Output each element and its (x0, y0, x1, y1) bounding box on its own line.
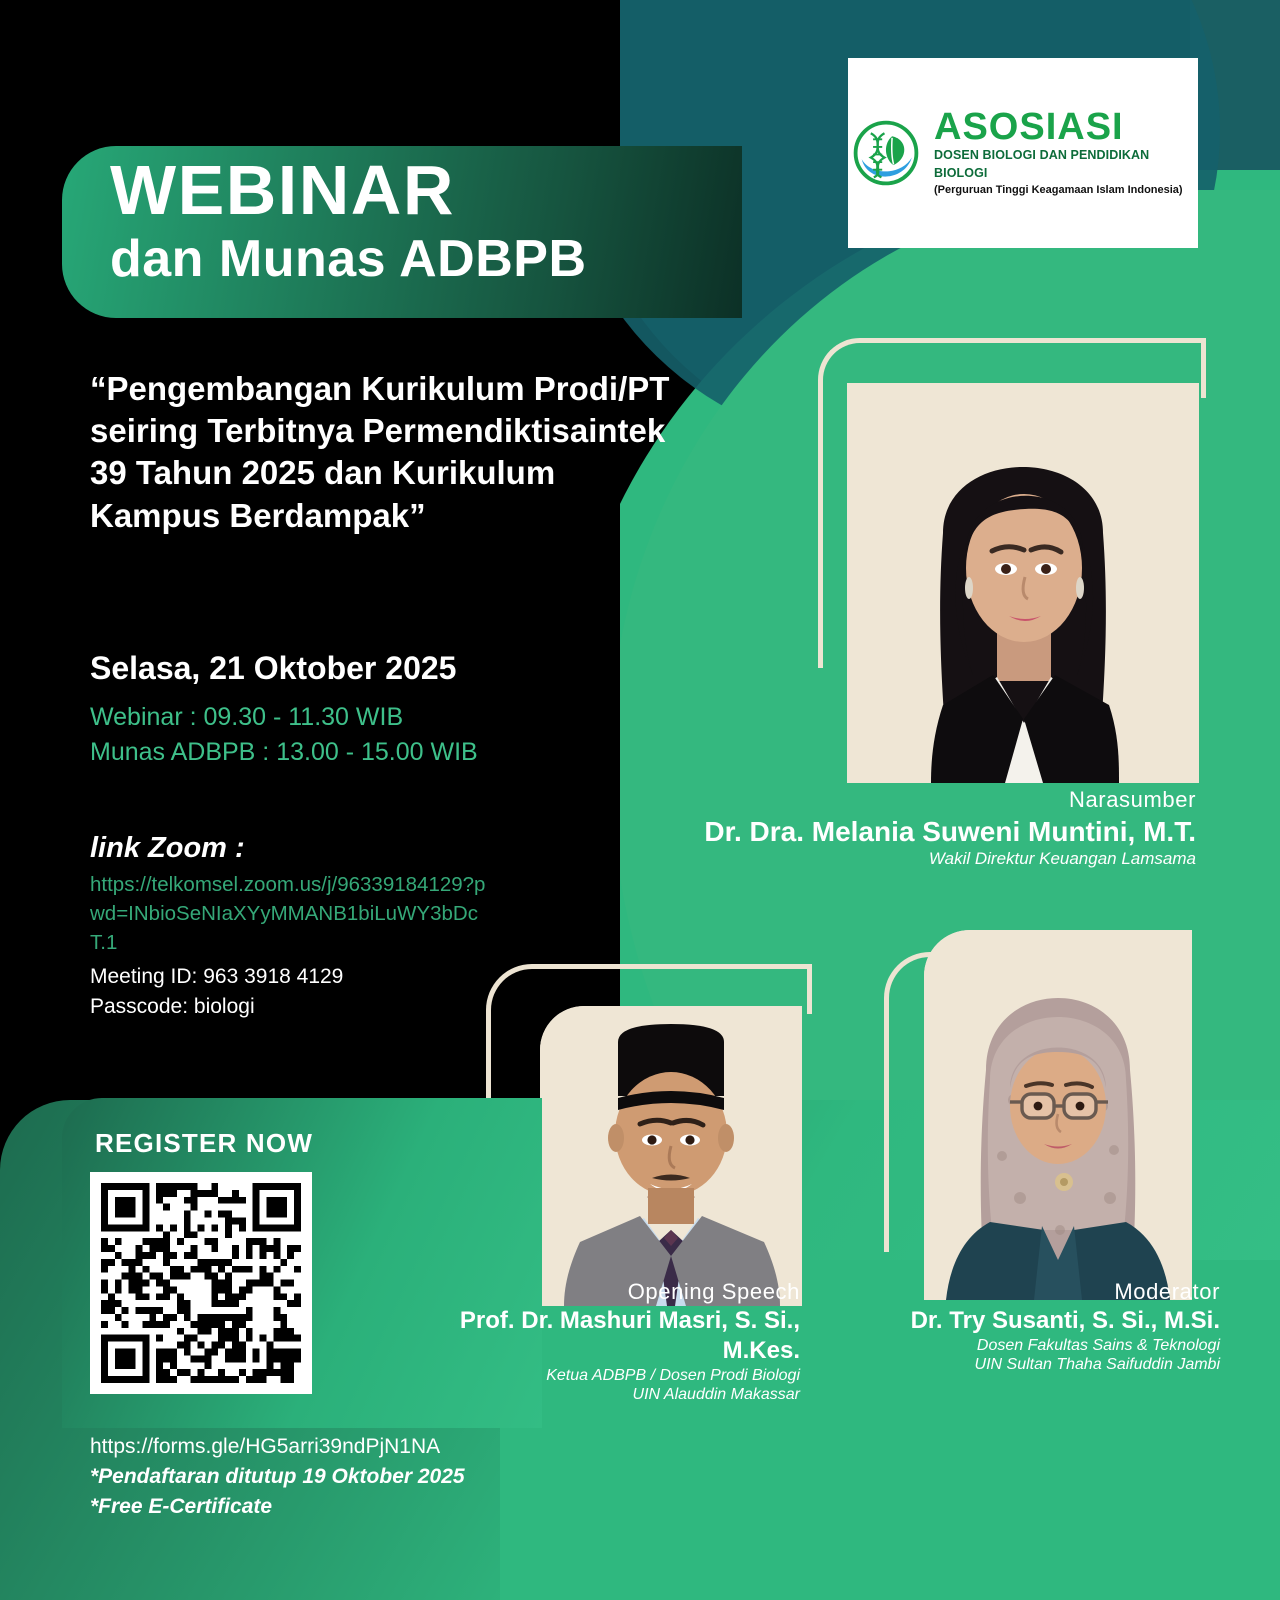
portrait-try-susanti (924, 930, 1192, 1300)
event-schedule: Webinar : 09.30 - 11.30 WIB Munas ADBPB … (90, 700, 478, 769)
webinar-poster: WEBINAR dan Munas ADBPB ASOSIASI DOSEN B… (0, 0, 1280, 1600)
event-date: Selasa, 21 Oktober 2025 (90, 650, 456, 687)
portrait-melania-suweni-muntini (847, 383, 1199, 783)
speaker-name-moderator: Dr. Try Susanti, S. Si., M.Si. (850, 1306, 1220, 1336)
registration-form-url[interactable]: https://forms.gle/HG5arri39ndPjN1NA (90, 1432, 465, 1462)
caption-narasumber: Narasumber Dr. Dra. Melania Suweni Munti… (704, 786, 1196, 869)
caption-moderator: Moderator Dr. Try Susanti, S. Si., M.Si.… (850, 1278, 1220, 1375)
role-label-narasumber: Narasumber (704, 786, 1196, 814)
free-certificate-note: *Free E-Certificate (90, 1492, 465, 1522)
logo-name-sub: DOSEN BIOLOGI DAN PENDIDIKAN BIOLOGI (934, 146, 1198, 184)
schedule-webinar: Webinar : 09.30 - 11.30 WIB (90, 700, 478, 735)
page-title: WEBINAR dan Munas ADBPB (110, 155, 587, 287)
zoom-link-label: link Zoom : (90, 832, 245, 865)
register-now-label: REGISTER NOW (95, 1128, 313, 1159)
role-label-moderator: Moderator (850, 1278, 1220, 1306)
zoom-link-url[interactable]: https://telkomsel.zoom.us/j/96339184129?… (90, 870, 490, 957)
speaker-affiliation1-moderator: Dosen Fakultas Sains & Teknologi (850, 1336, 1220, 1356)
title-line-webinar: WEBINAR (110, 155, 587, 226)
association-logo: ASOSIASI DOSEN BIOLOGI DAN PENDIDIKAN BI… (848, 58, 1198, 248)
speaker-name-opening-speech: Prof. Dr. Mashuri Masri, S. Si., M.Kes. (380, 1306, 800, 1366)
meeting-id: Meeting ID: 963 3918 4129 (90, 962, 343, 992)
title-line-subtitle: dan Munas ADBPB (110, 232, 587, 287)
speaker-affiliation1-opening-speech: Ketua ADBPB / Dosen Prodi Biologi (380, 1366, 800, 1386)
logo-name-paren: (Perguruan Tinggi Keagamaan Islam Indone… (934, 183, 1198, 198)
speaker-affiliation2-opening-speech: UIN Alauddin Makassar (380, 1385, 800, 1405)
caption-opening-speech: Opening Speech Prof. Dr. Mashuri Masri, … (380, 1278, 800, 1405)
qr-code-canvas (101, 1183, 301, 1383)
meeting-passcode: Passcode: biologi (90, 992, 343, 1022)
qr-code-registration[interactable] (90, 1172, 312, 1394)
webinar-theme: “Pengembangan Kurikulum Prodi/PT seiring… (90, 368, 670, 537)
logo-name-main: ASOSIASI (934, 108, 1198, 146)
schedule-munas: Munas ADBPB : 13.00 - 15.00 WIB (90, 735, 478, 770)
footer-info: https://forms.gle/HG5arri39ndPjN1NA *Pen… (90, 1432, 465, 1521)
dna-leaf-circle-icon (848, 115, 924, 191)
speaker-affiliation-narasumber: Wakil Direktur Keuangan Lamsama (704, 849, 1196, 870)
role-label-opening-speech: Opening Speech (380, 1278, 800, 1306)
zoom-credentials: Meeting ID: 963 3918 4129 Passcode: biol… (90, 962, 343, 1022)
portrait-mashuri-masri (540, 1006, 802, 1306)
registration-deadline-note: *Pendaftaran ditutup 19 Oktober 2025 (90, 1462, 465, 1492)
speaker-affiliation2-moderator: UIN Sultan Thaha Saifuddin Jambi (850, 1355, 1220, 1375)
speaker-name-narasumber: Dr. Dra. Melania Suweni Muntini, M.T. (704, 814, 1196, 849)
